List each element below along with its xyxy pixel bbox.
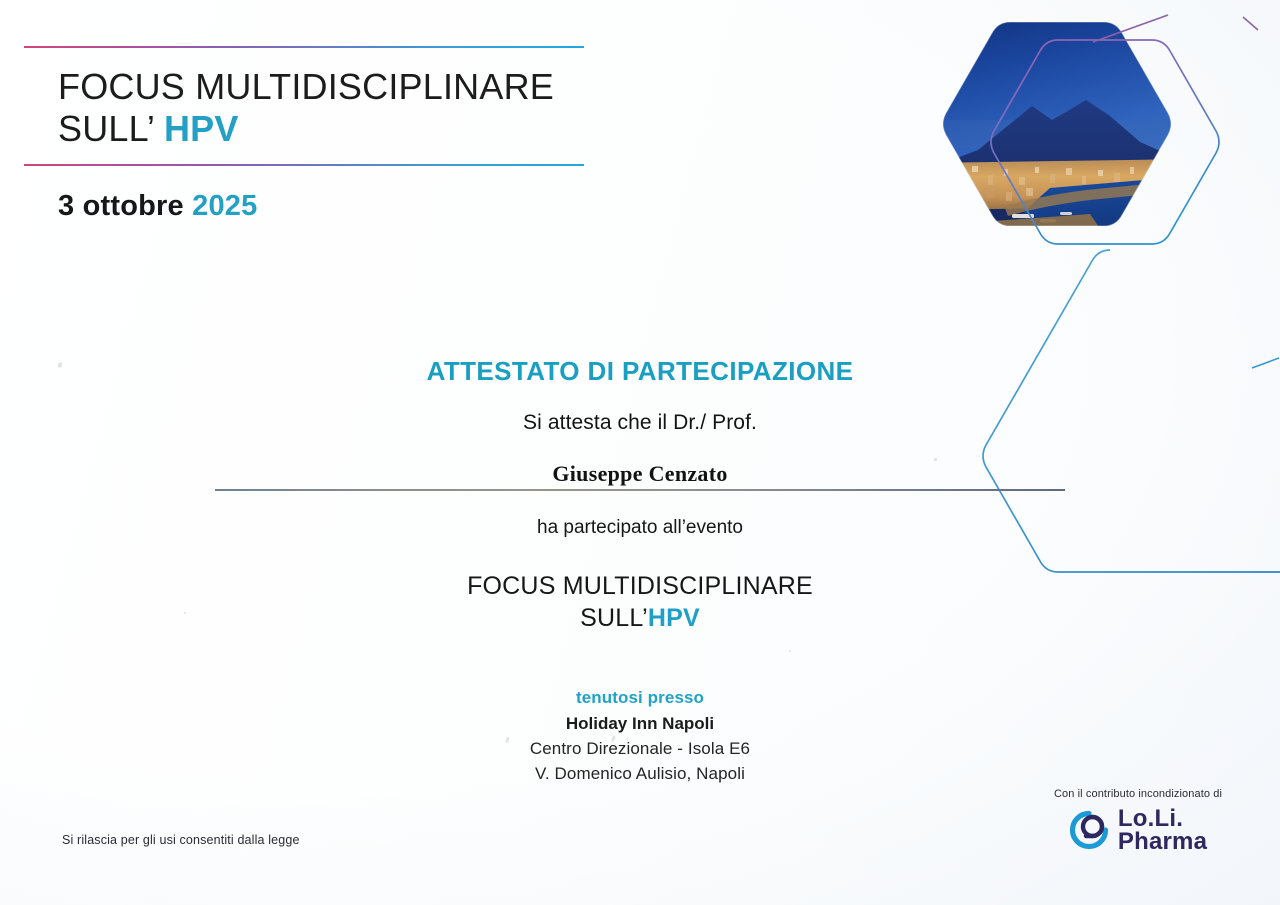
sponsor-name-line2: Pharma <box>1118 830 1207 853</box>
sponsor-caption: Con il contributo incondizionato di <box>1054 788 1222 800</box>
venue-label: tenutosi presso <box>0 686 1280 709</box>
page-title: FOCUS MULTIDISCIPLINARE SULL’ HPV <box>58 66 584 150</box>
event-date: 3 ottobre 2025 <box>24 166 584 223</box>
sponsor-block: Con il contributo incondizionato di Lo.L… <box>1054 788 1222 854</box>
sponsor-name-line1: Lo.Li. <box>1118 807 1207 830</box>
event-name-line1: FOCUS MULTIDISCIPLINARE <box>467 572 813 600</box>
event-date-year: 2025 <box>192 190 257 222</box>
participant-name-field: Giuseppe Cenzato <box>0 461 1280 495</box>
certificate-intro-text: Si attesta che il Dr./ Prof. <box>0 411 1280 435</box>
venue-address-line1: Centro Direzionale - Isola E6 <box>0 737 1280 760</box>
event-title-block: FOCUS MULTIDISCIPLINARE SULL’ HPV <box>24 48 584 164</box>
venue-address-line2: V. Domenico Aulisio, Napoli <box>0 762 1280 785</box>
participant-name-underline <box>215 489 1065 491</box>
event-name-line2-accent: HPV <box>648 604 700 632</box>
legal-note: Si rilascia per gli usi consentiti dalla… <box>62 833 300 847</box>
event-title-line1: FOCUS MULTIDISCIPLINARE <box>58 66 554 107</box>
venue-block: tenutosi presso Holiday Inn Napoli Centr… <box>0 686 1280 785</box>
certificate-body: ATTESTATO DI PARTECIPAZIONE Si attesta c… <box>0 356 1280 785</box>
certificate-page: FOCUS MULTIDISCIPLINARE SULL’ HPV 3 otto… <box>0 0 1280 905</box>
sponsor-logo: Lo.Li. Pharma <box>1054 807 1222 854</box>
venue-name: Holiday Inn Napoli <box>0 712 1280 735</box>
decorative-diagonal-line-1 <box>1093 15 1168 42</box>
participant-name: Giuseppe Cenzato <box>552 461 727 486</box>
naples-vesuvius-hero-image <box>930 10 1190 240</box>
hero-hexagon-edge <box>943 22 1171 226</box>
header-block: FOCUS MULTIDISCIPLINARE SULL’ HPV 3 otto… <box>24 46 584 223</box>
certificate-heading: ATTESTATO DI PARTECIPAZIONE <box>0 356 1280 387</box>
participation-text: ha partecipato all’evento <box>0 517 1280 539</box>
decorative-hexagon-outline-small <box>991 40 1219 244</box>
event-title-line2-prefix: SULL’ <box>58 108 164 149</box>
decorative-diagonal-line-2 <box>1243 17 1258 30</box>
event-title-line2-accent: HPV <box>164 108 239 149</box>
event-date-day-month: 3 ottobre <box>58 190 192 222</box>
event-name-line2-prefix: SULL’ <box>580 604 648 632</box>
event-name-block: FOCUS MULTIDISCIPLINARE SULL’HPV <box>0 571 1280 634</box>
sponsor-wordmark: Lo.Li. Pharma <box>1118 807 1207 854</box>
loli-pharma-circle-icon <box>1069 810 1109 850</box>
